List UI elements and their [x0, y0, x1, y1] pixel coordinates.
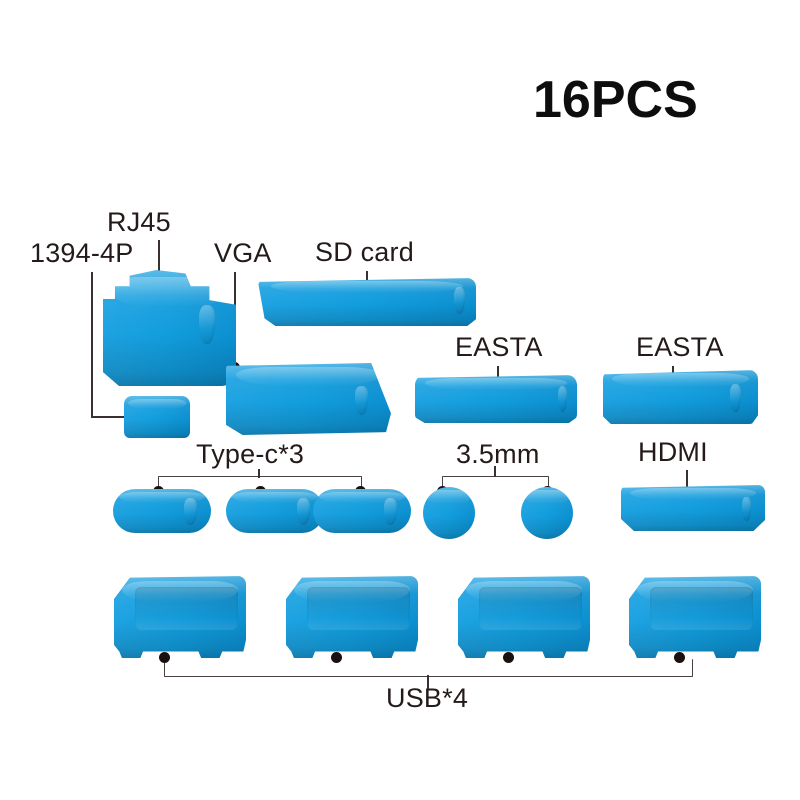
plug-usb-1	[114, 576, 246, 658]
label-sd-card: SD card	[315, 239, 414, 266]
label-vga: VGA	[214, 240, 272, 267]
leader-dot-usb-4	[674, 652, 685, 663]
plug-easta-right	[603, 370, 758, 424]
plug-3-5mm-2	[521, 487, 573, 539]
plug-3-5mm-1	[423, 487, 475, 539]
label-type-c: Type-c*3	[196, 441, 304, 468]
plug-usb-4	[629, 576, 761, 658]
plug-easta-left	[415, 375, 577, 423]
plug-usb-2-recess	[307, 587, 410, 630]
leader-dot-usb-1	[159, 652, 170, 663]
label-1394-4p: 1394-4P	[30, 240, 133, 267]
plug-hdmi	[621, 485, 765, 531]
plug-type-c-1-nub	[184, 498, 198, 525]
plug-type-c-3	[313, 489, 411, 533]
plug-sd-card-nub	[454, 287, 465, 315]
label-hdmi: HDMI	[638, 439, 708, 466]
plug-type-c-3-nub	[384, 498, 398, 525]
leader-line-type-c-stem	[258, 469, 260, 478]
plug-type-c-2	[226, 489, 324, 533]
plug-rj45-nub	[199, 305, 215, 344]
plug-1394-4p	[124, 396, 190, 438]
plug-easta-left-nub	[558, 386, 568, 412]
plug-type-c-2-nub	[297, 498, 311, 525]
product-image-canvas: 16PCS 1394-4P RJ45 VGA SD card EASTA EAS…	[0, 0, 800, 800]
plug-easta-right-nub	[730, 384, 741, 412]
label-easta-left: EASTA	[455, 334, 543, 361]
plug-usb-4-recess	[650, 587, 753, 630]
plug-hdmi-nub	[742, 497, 751, 521]
label-3-5mm: 3.5mm	[456, 441, 540, 468]
quantity-badge: 16PCS	[533, 74, 698, 126]
plug-vga-nub	[355, 386, 368, 415]
leader-line-usb-stem	[427, 675, 429, 689]
plug-rj45	[103, 270, 236, 386]
leader-line-3-5mm-stem	[494, 466, 496, 477]
plug-usb-2	[286, 576, 418, 658]
label-rj45: RJ45	[107, 209, 171, 236]
plug-vga	[226, 363, 391, 435]
leader-dot-usb-3	[503, 652, 514, 663]
leader-line-1394-vertical	[91, 272, 93, 417]
plug-sd-card	[258, 278, 476, 326]
plug-usb-3-recess	[479, 587, 582, 630]
plug-usb-1-recess	[135, 587, 238, 630]
label-easta-right: EASTA	[636, 334, 724, 361]
label-usb: USB*4	[386, 685, 468, 712]
plug-usb-3	[458, 576, 590, 658]
plug-type-c-1	[113, 489, 211, 533]
leader-dot-usb-2	[331, 652, 342, 663]
